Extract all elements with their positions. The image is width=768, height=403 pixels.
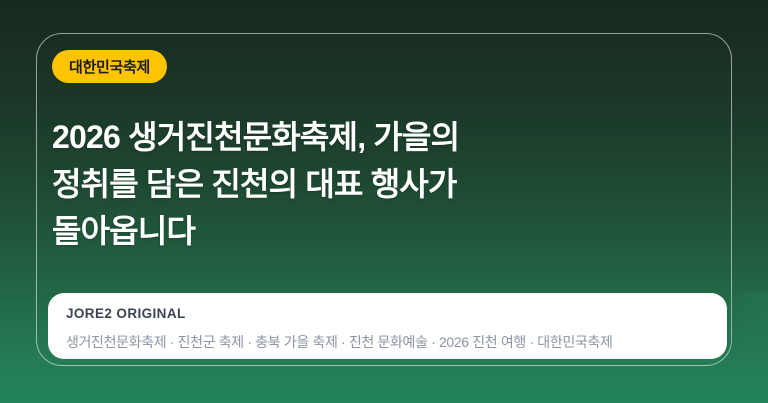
tag-list-text: 생거진천문화축제 · 진천군 축제 · 충북 가을 축제 · 진천 문화예술 ·… [66, 330, 768, 354]
promo-banner: 대한민국축제 2026 생거진천문화축제, 가을의 정취를 담은 진천의 대표 … [0, 0, 768, 403]
category-badge[interactable]: 대한민국축제 [52, 50, 167, 83]
category-badge-label: 대한민국축제 [69, 56, 150, 77]
page-title: 2026 생거진천문화축제, 가을의 정취를 담은 진천의 대표 행사가 돌아옵… [52, 114, 652, 255]
tag-list: 생거진천문화축제 · 진천군 축제 · 충북 가을 축제 · 진천 문화예술 ·… [66, 330, 768, 354]
original-label: JORE2 ORIGINAL [66, 304, 709, 323]
